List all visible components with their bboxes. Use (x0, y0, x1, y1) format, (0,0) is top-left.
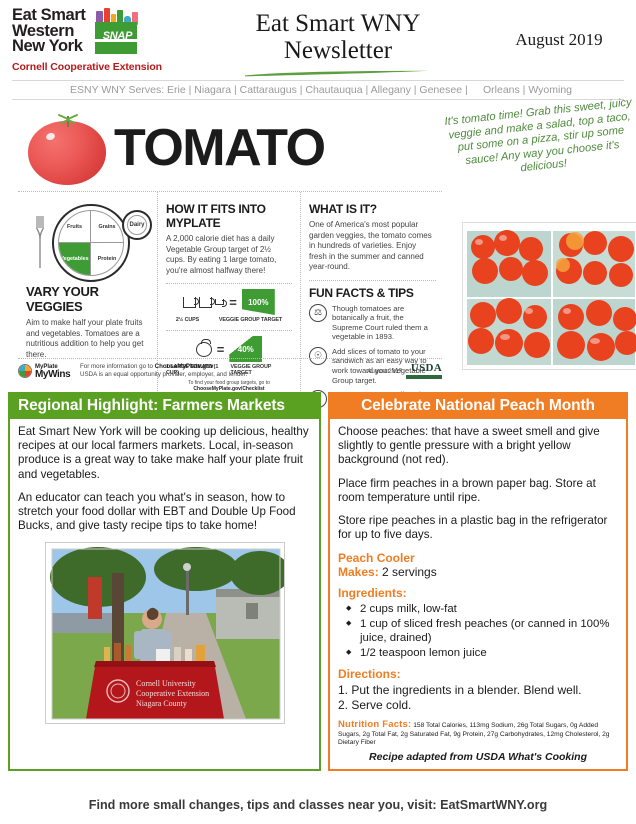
recipe-makes-label: Makes: (338, 565, 379, 579)
content-panels: Regional Highlight: Farmers Markets Eat … (8, 392, 628, 771)
svg-text:Cornell University: Cornell University (136, 679, 196, 688)
plate-section-protein: Protein (91, 243, 123, 275)
regional-highlight-panel: Regional Highlight: Farmers Markets Eat … (8, 392, 321, 771)
choosemyplate-link[interactable]: ChooseMyPlate.gov (155, 363, 214, 370)
farmers-market-image: Cornell University Cooperative Extension… (46, 543, 285, 724)
tomato-baskets-image (463, 223, 636, 370)
infographic-footer-note: For more information go to ChooseMyPlate… (80, 363, 350, 379)
peach-paragraph: Choose peaches: that have a sweet smell … (338, 425, 618, 468)
checklist-note: To find your food group targets, go to C… (166, 380, 292, 392)
infographic-title-row: TOMATO (18, 104, 442, 192)
svg-text:Cooperative Extension: Cooperative Extension (136, 689, 209, 698)
snap-grocery-bag-icon: SNAP (91, 8, 143, 54)
what-is-it-title: WHAT IS IT? (309, 202, 436, 216)
peach-month-panel: Celebrate National Peach Month Choose pe… (328, 392, 628, 771)
ingredient-item: 2 cups milk, low-fat (344, 602, 618, 616)
myplate-fit-body: A 2,000 calorie diet has a daily Vegetab… (166, 234, 292, 276)
fun-fact-text: Though tomatoes are botanically a fruit,… (332, 304, 436, 342)
what-is-it-body: One of America's most popular garden veg… (309, 220, 436, 273)
green-swoosh-divider (243, 70, 433, 77)
infographic-footer: MyPlate MyWins For more information go t… (18, 358, 442, 379)
myplate-mywins-logo: MyPlate MyWins (18, 363, 80, 379)
usda-equal-opportunity-note: USDA is an equal opportunity provider, e… (80, 371, 350, 379)
ingredient-item: 1 cup of sliced fresh peaches (or canned… (344, 617, 618, 645)
tomato-outline-icon (196, 342, 212, 357)
counties-served-bar: ESNY WNY Serves: Erie | Niagara | Cattar… (12, 80, 624, 100)
newsletter-title-line-2: Newsletter (182, 37, 494, 64)
snap-label: SNAP (97, 30, 137, 42)
ingredients-label: Ingredients: (338, 586, 618, 600)
measuring-cup-icon (199, 297, 212, 308)
direction-step: 1. Put the ingredients in a blender. Ble… (338, 683, 618, 698)
footer-note-plain: For more information go to (80, 363, 155, 370)
newsletter-title-line-1: Eat Smart WNY (182, 10, 494, 37)
ingredients-list: 2 cups milk, low-fat 1 cup of sliced fre… (344, 602, 618, 660)
direction-step: 2. Serve cold. (338, 698, 618, 713)
peach-month-heading: Celebrate National Peach Month (330, 394, 626, 419)
vary-veggies-title: VARY YOUR VEGGIES (26, 284, 149, 314)
nutrition-facts-label: Nutrition Facts: (338, 719, 411, 730)
tomato-infographic: TOMATO Fruits Grains Vegetables (10, 104, 626, 399)
tomato-baskets-photo (462, 222, 636, 370)
counties-served-right: Orleans | Wyoming (483, 84, 572, 96)
equation-1-right-caption: VEGGIE GROUP TARGET (219, 317, 282, 323)
tomato-illustration-icon (24, 109, 110, 187)
recipe-makes-value: 2 servings (379, 565, 437, 579)
brand-logo: Eat Smart Western New York SNAP Cornell … (12, 8, 182, 73)
myplate-diagram: Fruits Grains Vegetables Protein Dairy (26, 198, 149, 280)
measuring-cup-half-icon (215, 299, 224, 305)
usda-label: USDA (406, 363, 442, 374)
handwritten-tomato-note: It's tomato time! Grab this sweet, juicy… (440, 96, 636, 202)
equation-1-left-caption: 2½ CUPS (176, 317, 199, 323)
nutrition-facts: Nutrition Facts: 158 Total Calories, 113… (338, 721, 618, 747)
issue-date: August 2019 (494, 8, 624, 50)
regional-paragraph: Eat Smart New York will be cooking up de… (18, 425, 311, 482)
plate-section-fruits: Fruits (59, 211, 91, 243)
peach-paragraph: Store ripe peaches in a plastic bag in t… (338, 514, 618, 542)
equation-cups-to-target: = 100% (166, 289, 292, 315)
veggie-target-badge-100: 100% (242, 289, 275, 315)
plate-section-dairy: Dairy (122, 210, 152, 240)
equals-icon: = (217, 342, 225, 357)
fun-fact-item: ⚖ Though tomatoes are botanically a frui… (309, 304, 436, 342)
mywins-label: MyWins (35, 371, 70, 379)
usda-logo: USDA (406, 363, 442, 379)
recipe-credit: Recipe adapted from USDA What's Cooking (338, 751, 618, 763)
brand-line-3: New York (12, 39, 85, 55)
plate-section-grains: Grains (91, 211, 123, 243)
fun-facts-title: FUN FACTS & TIPS (309, 286, 436, 300)
peach-paragraph: Place firm peaches in a brown paper bag.… (338, 477, 618, 505)
farmers-market-photo: Cornell University Cooperative Extension… (45, 542, 285, 724)
brand-wordmark: Eat Smart Western New York (12, 8, 85, 55)
infographic-card: TOMATO Fruits Grains Vegetables (18, 104, 442, 391)
equals-icon: = (229, 295, 237, 310)
recipe-title: Peach Cooler (338, 551, 618, 565)
plate-section-vegetables: Vegetables (59, 243, 91, 275)
produce-name: TOMATO (114, 122, 325, 174)
regional-highlight-heading: Regional Highlight: Farmers Markets (10, 394, 319, 419)
svg-text:Niagara County: Niagara County (136, 699, 187, 708)
page-header: Eat Smart Western New York SNAP Cornell … (0, 0, 636, 78)
myplate-circle-icon (18, 364, 32, 378)
counties-served-left: ESNY WNY Serves: Erie | Niagara | Cattar… (70, 84, 468, 96)
infographic-date: August 2017 (350, 368, 406, 375)
vary-veggies-body: Aim to make half your plate fruits and v… (26, 318, 149, 360)
cornell-extension-label: Cornell Cooperative Extension (12, 61, 182, 73)
ingredient-item: 1/2 teaspoon lemon juice (344, 646, 618, 660)
scale-icon: ⚖ (309, 304, 327, 322)
regional-paragraph: An educator can teach you what's in seas… (18, 491, 311, 534)
recipe-makes: Makes: 2 servings (338, 565, 618, 579)
newsletter-title-block: Eat Smart WNY Newsletter (182, 8, 494, 82)
page-footer: Find more small changes, tips and classe… (0, 798, 636, 812)
myplate-fit-title: HOW IT FITS INTO MYPLATE (166, 202, 292, 230)
plate-outline: Fruits Grains Vegetables Protein (52, 204, 130, 282)
fork-icon (36, 214, 45, 270)
directions-label: Directions: (338, 667, 618, 681)
measuring-cup-icon (183, 297, 196, 308)
